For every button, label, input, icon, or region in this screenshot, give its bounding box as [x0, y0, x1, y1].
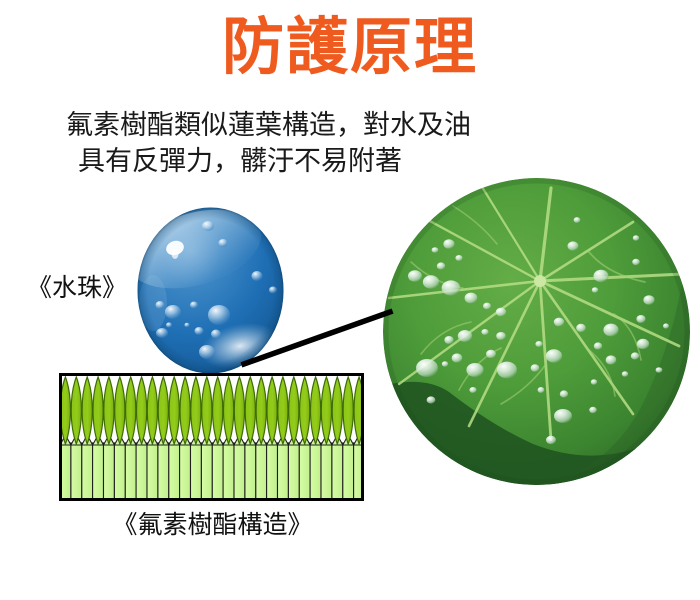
description-text: 氟素樹酯類似蓮葉構造，對水及油 具有反彈力，髒汙不易附著 [66, 108, 496, 180]
description-line-1: 氟素樹酯類似蓮葉構造，對水及油 [66, 108, 496, 144]
fluoropolymer-structure [59, 373, 364, 501]
water-bead-sphere [137, 207, 284, 374]
slide-canvas: 防護原理 氟素樹酯類似蓮葉構造，對水及油 具有反彈力，髒汙不易附著 《水珠》 [0, 0, 700, 600]
description-line-2: 具有反彈力，髒汙不易附著 [66, 144, 496, 180]
lotus-leaf-photo [383, 178, 690, 485]
water-bead-label: 《水珠》 [27, 272, 127, 304]
page-title: 防護原理 [0, 12, 700, 82]
structure-caption: 《氟素樹酯構造》 [0, 509, 425, 541]
